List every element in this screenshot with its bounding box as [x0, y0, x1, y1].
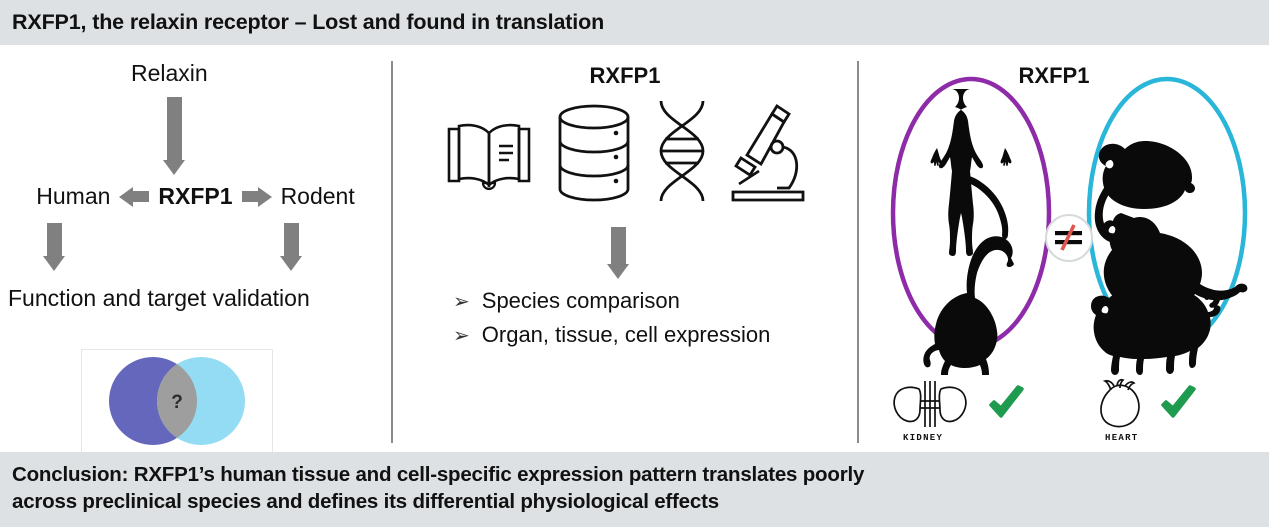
arrow-rxfp1-to-rodent — [242, 187, 272, 207]
organ-expression-row: KIDNEY HEART — [873, 377, 1269, 449]
book-icon — [441, 113, 537, 198]
check-icon — [1157, 383, 1199, 425]
venn-diagram: ? — [81, 349, 273, 453]
bullet-text: Species comparison — [482, 288, 680, 314]
rxfp1-label-left: RXFP1 — [158, 183, 232, 210]
species-flow-row: Human RXFP1 Rodent — [0, 183, 391, 210]
bullet-arrow-icon: ➢ — [453, 292, 470, 312]
arrow-relaxin-to-rxfp1 — [163, 97, 185, 175]
database-icon — [551, 101, 637, 210]
panel-right-species-comparison: RXFP1 — [859, 45, 1269, 452]
arrow-rodent-to-outcome — [280, 223, 302, 271]
species-comparison-stage — [859, 45, 1269, 375]
rxfp1-label-middle: RXFP1 — [393, 63, 857, 89]
equals-bar-bottom — [1055, 240, 1082, 244]
arrow-to-analysis — [607, 227, 629, 279]
microscope-icon — [727, 100, 809, 211]
conclusion-banner: Conclusion: RXFP1’s human tissue and cel… — [0, 452, 1269, 527]
heart-group — [1091, 377, 1199, 431]
conclusion-line-2: across preclinical species and defines i… — [12, 488, 864, 515]
relaxin-label: Relaxin — [131, 60, 208, 87]
check-icon — [985, 383, 1027, 425]
list-item: ➢ Organ, tissue, cell expression — [453, 322, 853, 348]
conclusion-line-1: Conclusion: RXFP1’s human tissue and cel… — [12, 461, 864, 488]
kidney-icon — [889, 377, 981, 431]
heart-icon — [1091, 377, 1153, 431]
pig-silhouette — [1091, 286, 1220, 375]
title-banner: RXFP1, the relaxin receptor – Lost and f… — [0, 0, 1269, 45]
panel-left-workflow: Relaxin Human RXFP1 Rodent Function and … — [0, 45, 391, 452]
venn-question-mark: ? — [171, 392, 183, 413]
kidney-group — [889, 377, 1027, 431]
bullet-text: Organ, tissue, cell expression — [482, 322, 771, 348]
human-label: Human — [36, 183, 110, 210]
not-equal-slash — [1062, 225, 1074, 250]
panel-middle-datasources: RXFP1 — [393, 45, 857, 452]
human-silhouette — [931, 89, 1012, 256]
dna-helix-icon — [651, 99, 713, 212]
list-item: ➢ Species comparison — [453, 288, 853, 314]
bullet-arrow-icon: ➢ — [453, 326, 470, 346]
data-source-icon-row — [423, 97, 827, 213]
analysis-bullet-list: ➢ Species comparison ➢ Organ, tissue, ce… — [453, 288, 853, 356]
arrow-rxfp1-to-human — [119, 187, 149, 207]
conclusion-text: Conclusion: RXFP1’s human tissue and cel… — [0, 452, 864, 515]
function-validation-label: Function and target validation — [8, 285, 310, 312]
rodent-label: Rodent — [281, 183, 355, 210]
not-equal-badge — [1045, 214, 1093, 262]
page-title: RXFP1, the relaxin receptor – Lost and f… — [0, 10, 604, 35]
heart-label: HEART — [1105, 433, 1139, 443]
arrow-human-to-outcome — [43, 223, 65, 271]
figure-body: Relaxin Human RXFP1 Rodent Function and … — [0, 45, 1269, 452]
kidney-label: KIDNEY — [903, 433, 943, 443]
